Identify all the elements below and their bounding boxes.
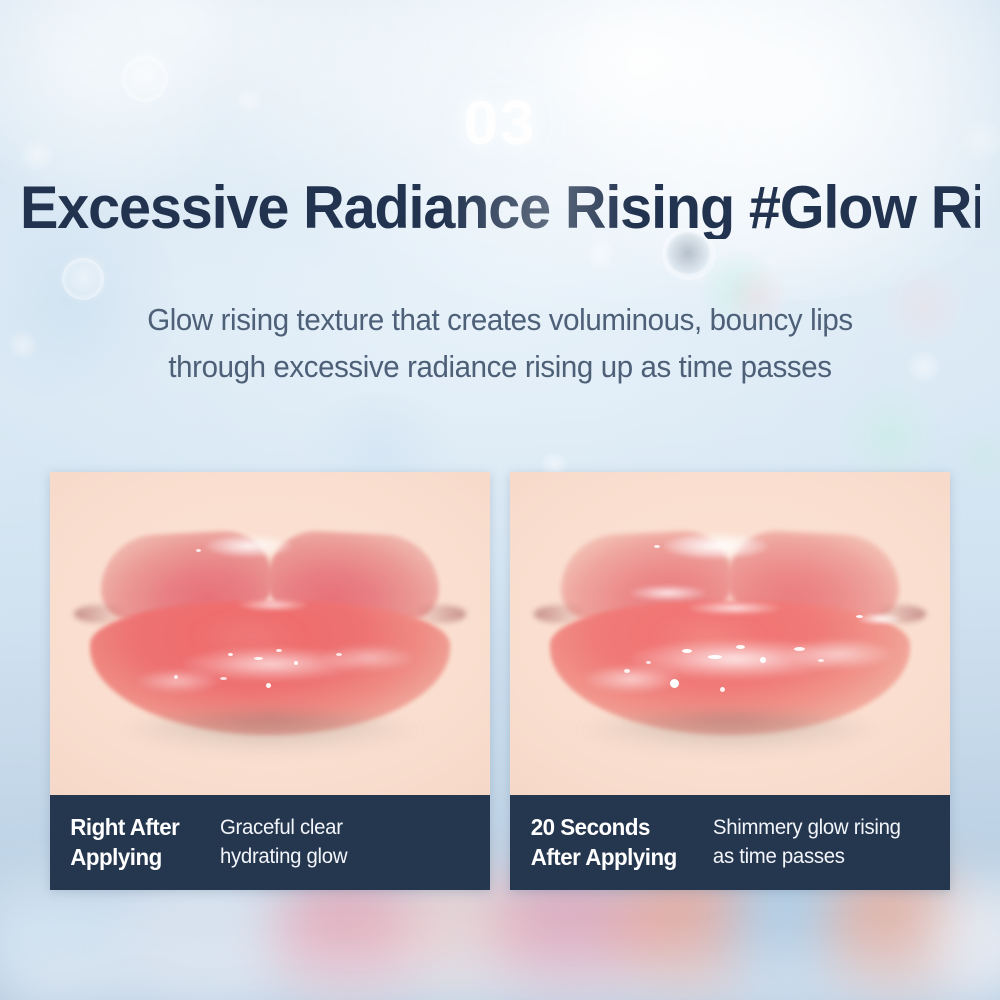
card-description: Shimmery glow rising as time passes xyxy=(713,814,901,871)
step-number: 03 xyxy=(0,88,1000,159)
subtitle-line-1: Glow rising texture that creates volumin… xyxy=(25,296,975,343)
comparison-card-list: Right After Applying Graceful clear hydr… xyxy=(50,472,950,890)
card-caption: Right After Applying Graceful clear hydr… xyxy=(50,795,490,890)
promo-banner: 03 Excessive Radiance Rising #Glow Risin… xyxy=(0,0,1000,1000)
subtitle-line-2: through excessive radiance rising up as … xyxy=(25,343,975,390)
card-caption: 20 Seconds After Applying Shimmery glow … xyxy=(510,795,950,890)
bokeh-circle-mint xyxy=(840,388,940,484)
card-title: 20 Seconds After Applying xyxy=(531,813,708,871)
lips-illustration xyxy=(538,527,922,741)
bokeh-ring xyxy=(62,258,104,300)
subtitle: Glow rising texture that creates volumin… xyxy=(25,296,975,390)
lower-lip-shadow xyxy=(580,713,880,753)
blur-blob xyxy=(0,942,1000,1000)
lips-photo-20-seconds-after-applying xyxy=(510,472,950,795)
lower-lip-shadow xyxy=(120,713,420,753)
card-description: Graceful clear hydrating glow xyxy=(220,814,347,871)
lips-illustration xyxy=(78,527,462,741)
page-title: Excessive Radiance Rising #Glow Rising xyxy=(20,176,980,239)
lips-photo-right-after-applying xyxy=(50,472,490,795)
bokeh-circle-mint xyxy=(956,430,1000,486)
card-title: Right After Applying xyxy=(70,813,216,871)
comparison-card: Right After Applying Graceful clear hydr… xyxy=(50,472,490,890)
comparison-card: 20 Seconds After Applying Shimmery glow … xyxy=(510,472,950,890)
